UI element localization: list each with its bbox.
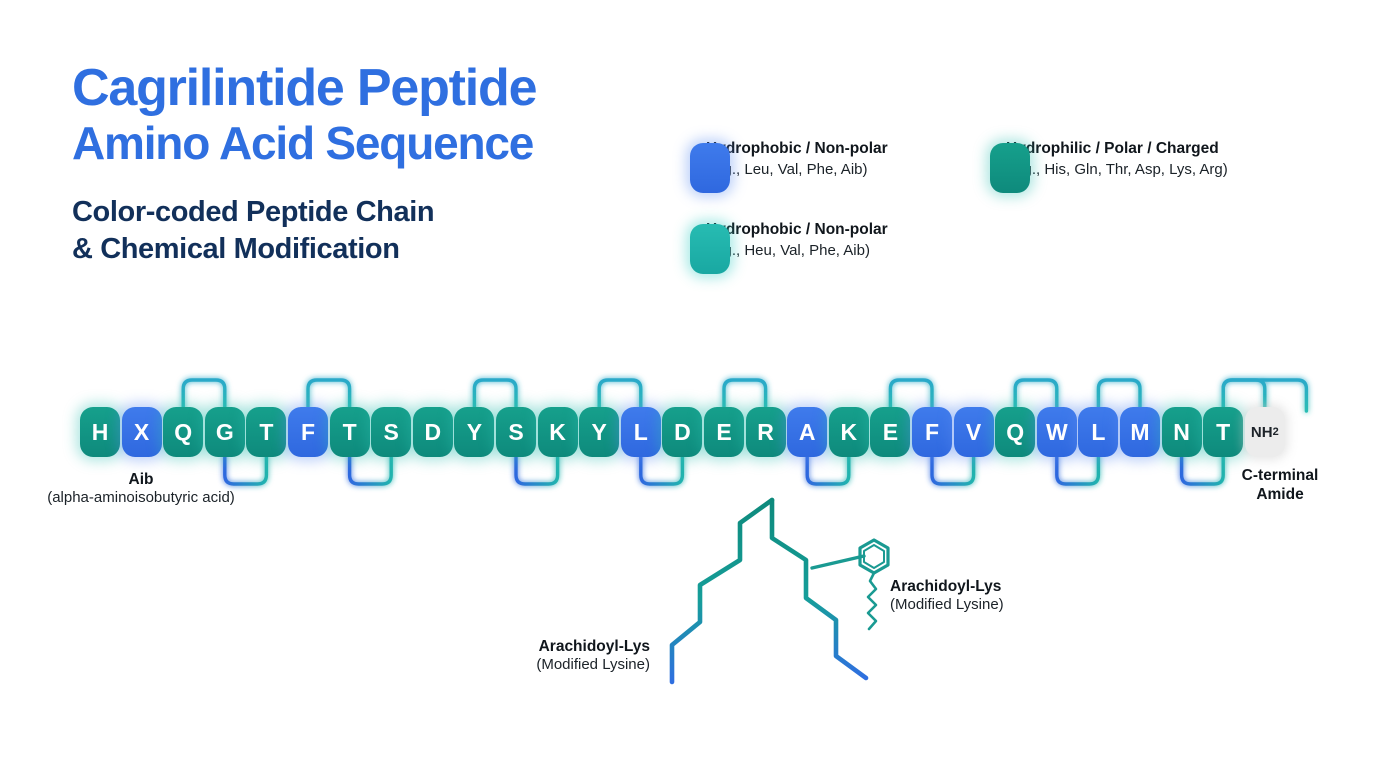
residue-21-F[interactable]: F: [912, 407, 952, 457]
annotation-subtitle: (alpha-aminoisobutyric acid): [30, 489, 252, 508]
c-terminal-amide-box[interactable]: NH2: [1245, 407, 1285, 457]
residue-1-H[interactable]: H: [80, 407, 120, 457]
annotation-subtitle: (Modified Lysine): [890, 596, 1150, 615]
residue-letter: K: [840, 419, 857, 446]
residue-letter: S: [508, 419, 523, 446]
residue-letter: N: [1173, 419, 1190, 446]
residue-letter: Y: [467, 419, 482, 446]
residue-6-F[interactable]: F: [288, 407, 328, 457]
annotation-title: Aib: [30, 470, 252, 489]
residue-3-Q[interactable]: Q: [163, 407, 203, 457]
residue-letter: H: [92, 419, 109, 446]
annotation-arachidoyl-left: Arachidoyl-Lys (Modified Lysine): [400, 637, 650, 675]
residue-letter: T: [1216, 419, 1230, 446]
annotation-title: Arachidoyl-Lys: [400, 637, 650, 656]
residue-letter: Q: [174, 419, 192, 446]
residue-25-L[interactable]: L: [1078, 407, 1118, 457]
residue-9-D[interactable]: D: [413, 407, 453, 457]
residue-18-A[interactable]: A: [787, 407, 827, 457]
residue-17-R[interactable]: R: [746, 407, 786, 457]
residue-20-E[interactable]: E: [870, 407, 910, 457]
annotation-title: C-terminal: [1215, 466, 1345, 485]
residue-23-Q[interactable]: Q: [995, 407, 1035, 457]
residue-letter: E: [883, 419, 898, 446]
residue-letter: V: [966, 419, 981, 446]
peptide-chain: HXQGTFTSDYSKYLDERAKEFVQWLMNTNH2: [0, 0, 1376, 768]
residue-letter: S: [384, 419, 399, 446]
residue-letter: F: [925, 419, 939, 446]
residue-letter: F: [301, 419, 315, 446]
residue-12-K[interactable]: K: [538, 407, 578, 457]
annotation-title: Arachidoyl-Lys: [890, 577, 1150, 596]
residue-28-T[interactable]: T: [1203, 407, 1243, 457]
residue-15-D[interactable]: D: [662, 407, 702, 457]
residue-10-Y[interactable]: Y: [454, 407, 494, 457]
annotation-c-terminal: C-terminal Amide: [1215, 466, 1345, 504]
residue-letter: W: [1046, 419, 1068, 446]
residue-5-T[interactable]: T: [246, 407, 286, 457]
residue-letter: G: [216, 419, 234, 446]
residue-8-S[interactable]: S: [371, 407, 411, 457]
residue-7-T[interactable]: T: [330, 407, 370, 457]
residue-11-S[interactable]: S: [496, 407, 536, 457]
residue-letter: Y: [592, 419, 607, 446]
residue-4-G[interactable]: G: [205, 407, 245, 457]
annotation-subtitle: (Modified Lysine): [400, 656, 650, 675]
residue-2-X[interactable]: X: [122, 407, 162, 457]
residue-27-N[interactable]: N: [1162, 407, 1202, 457]
residue-letter: X: [134, 419, 149, 446]
residue-letter: T: [259, 419, 273, 446]
annotation-subtitle: Amide: [1215, 485, 1345, 504]
annotation-arachidoyl-right: Arachidoyl-Lys (Modified Lysine): [890, 577, 1150, 615]
infographic-canvas: Cagrilintide Peptide Amino Acid Sequence…: [0, 0, 1376, 768]
residue-letter: T: [343, 419, 357, 446]
residue-letter: E: [716, 419, 731, 446]
residue-letter: K: [549, 419, 566, 446]
residue-letter: Q: [1006, 419, 1024, 446]
residue-letter: D: [674, 419, 691, 446]
terminus-subscript: 2: [1273, 426, 1279, 438]
terminus-label: NH: [1251, 424, 1273, 441]
residue-letter: A: [799, 419, 816, 446]
residue-letter: M: [1130, 419, 1149, 446]
residue-letter: L: [1091, 419, 1105, 446]
residue-16-E[interactable]: E: [704, 407, 744, 457]
residue-19-K[interactable]: K: [829, 407, 869, 457]
residue-letter: L: [634, 419, 648, 446]
residue-14-L[interactable]: L: [621, 407, 661, 457]
residue-24-W[interactable]: W: [1037, 407, 1077, 457]
annotation-aib: Aib (alpha-aminoisobutyric acid): [30, 470, 252, 508]
residue-letter: R: [757, 419, 774, 446]
residue-13-Y[interactable]: Y: [579, 407, 619, 457]
residue-22-V[interactable]: V: [954, 407, 994, 457]
residue-letter: D: [424, 419, 441, 446]
residue-26-M[interactable]: M: [1120, 407, 1160, 457]
